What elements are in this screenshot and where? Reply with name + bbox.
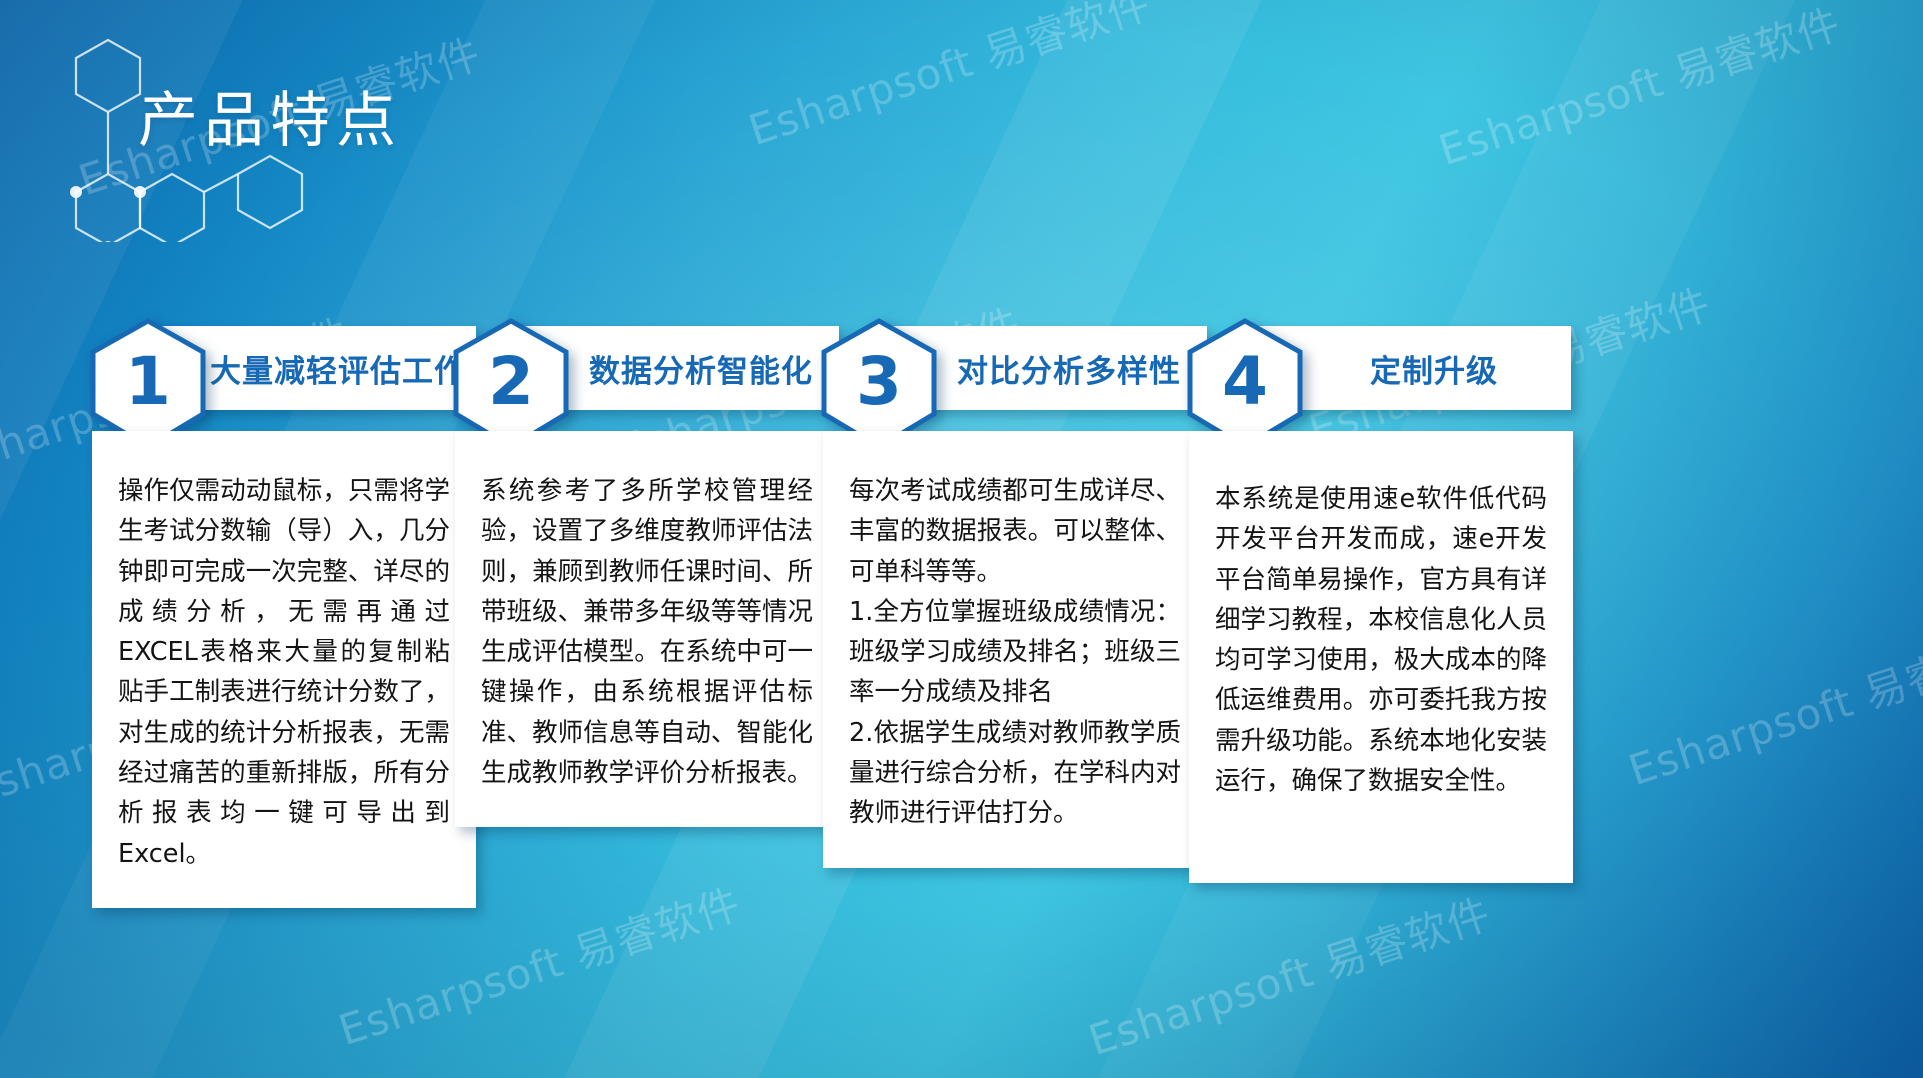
watermark: Esharpsoft 易睿软件 — [1080, 880, 1497, 1068]
feature-card-3[interactable]: 对比分析多样性 3 每次考试成绩都可生成详尽、丰富的数据报表。可以整体、可单科等… — [819, 318, 1207, 416]
card-body: 每次考试成绩都可生成详尽、丰富的数据报表。可以整体、可单科等等。 1.全方位掌握… — [823, 431, 1207, 868]
card-body-text: 系统参考了多所学校管理经验，设置了多维度教师评估法则，兼顾到教师任课时间、所带班… — [481, 471, 813, 793]
card-header: 数据分析智能化 2 — [451, 318, 839, 416]
feature-card-1[interactable]: 大量减轻评估工作 1 操作仅需动动鼠标，只需将学生考试分数输（导）入，几分钟即可… — [88, 318, 476, 416]
card-header: 对比分析多样性 3 — [819, 318, 1207, 416]
card-body: 本系统是使用速e软件低代码开发平台开发而成，速e开发平台简单易操作，官方具有详细… — [1189, 431, 1573, 883]
card-body: 系统参考了多所学校管理经验，设置了多维度教师评估法则，兼顾到教师任课时间、所带班… — [455, 431, 839, 827]
card-body-text: 操作仅需动动鼠标，只需将学生考试分数输（导）入，几分钟即可完成一次完整、详尽的成… — [118, 471, 450, 874]
card-header: 定制升级 4 — [1185, 318, 1573, 416]
feature-card-4[interactable]: 定制升级 4 本系统是使用速e软件低代码开发平台开发而成，速e开发平台简单易操作… — [1185, 318, 1573, 416]
card-body-text: 每次考试成绩都可生成详尽、丰富的数据报表。可以整体、可单科等等。 1.全方位掌握… — [849, 471, 1181, 834]
feature-card-2[interactable]: 数据分析智能化 2 系统参考了多所学校管理经验，设置了多维度教师评估法则，兼顾到… — [451, 318, 839, 416]
slide-root: Esharpsoft 易睿软件 Esharpsoft 易睿软件 Esharpso… — [0, 0, 1923, 1078]
page-title: 产品特点 — [138, 72, 402, 159]
watermark: Esharpsoft 易睿软件 — [1430, 0, 1847, 178]
card-body-text: 本系统是使用速e软件低代码开发平台开发而成，速e开发平台简单易操作，官方具有详细… — [1215, 479, 1547, 801]
watermark: Esharpsoft 易睿软件 — [740, 0, 1157, 158]
watermark: Esharpsoft 易睿软件 — [1620, 610, 1923, 798]
card-body: 操作仅需动动鼠标，只需将学生考试分数输（导）入，几分钟即可完成一次完整、详尽的成… — [92, 431, 476, 908]
card-header: 大量减轻评估工作 1 — [88, 318, 476, 416]
